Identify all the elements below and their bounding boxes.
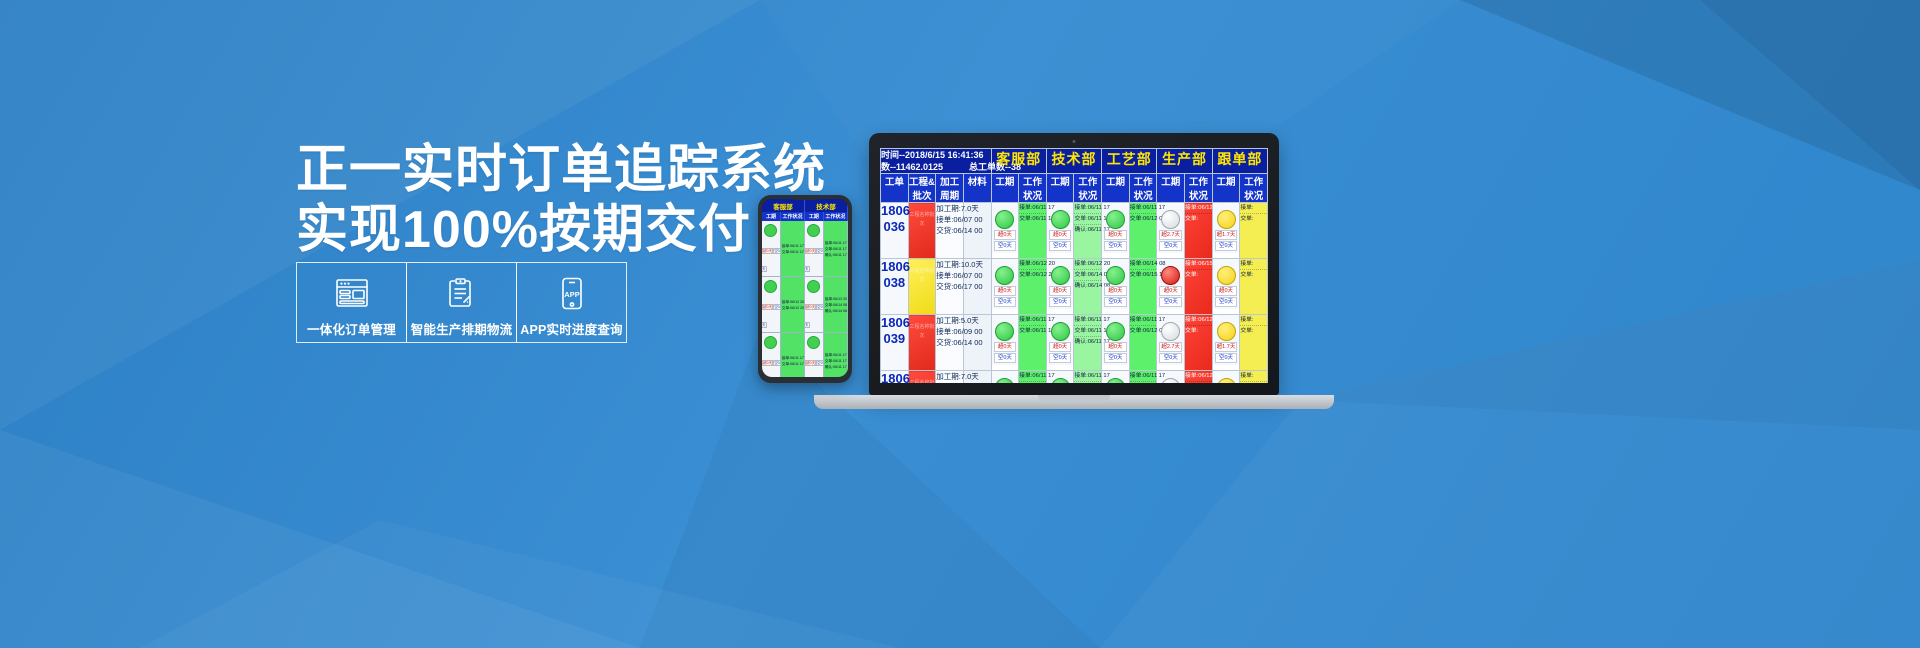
phone-duration-cell-0[interactable]: 超0天空0天: [762, 333, 781, 377]
processing-cycle-cell: 加工期:7.0天接单:06/08 00交货:06/15 00: [936, 371, 964, 384]
idle-chip: 空0天: [1215, 241, 1238, 251]
dept-0-work-status-cell[interactable]: 接单:06/12 20交单:06/12 20: [1019, 259, 1047, 315]
work-status-line: 接单:06/11 17: [1130, 203, 1157, 214]
dept-4-work-status-cell[interactable]: 接单:交单:: [1240, 203, 1268, 259]
dept-1-work-status-cell[interactable]: 接单:06/11 17交单:06/11 17确认:06/11 17: [1074, 315, 1102, 371]
status-indicator-yellow: [1217, 210, 1236, 229]
work-status-line: 接单:06/12 20: [1074, 259, 1101, 270]
laptop-base-notch: [1038, 395, 1110, 402]
overdue-chip: 超1.7天: [1215, 230, 1238, 240]
dept-1-subcol-1: 工作状况: [1074, 174, 1102, 203]
idle-chip: 空0天: [1159, 241, 1182, 251]
phone-table-row[interactable]: 超0天空0天接单:06/11 17交单:06/11 17超0天空0天接单:06/…: [762, 221, 848, 277]
idle-chip: 空0天: [1104, 241, 1127, 251]
work-status-line: 交单:: [1185, 382, 1212, 383]
status-indicator-green: [995, 322, 1014, 341]
idle-chip: 空0天: [1049, 353, 1072, 363]
work-status-line: 交单:06/11 17: [782, 249, 804, 255]
status-indicator-green: [1106, 210, 1125, 229]
status-indicator-green: [1051, 322, 1070, 341]
status-indicator-red: [1161, 266, 1180, 285]
status-indicator-green: [764, 280, 777, 293]
phone-dept-0: 客服部: [762, 199, 805, 212]
work-status-line: 接单:06/12 09: [1185, 371, 1212, 382]
phone-table-row[interactable]: 超0天空0天接单:06/11 17交单:06/11 17超0天空0天接单:06/…: [762, 333, 848, 377]
dashboard-window-icon: [334, 276, 370, 310]
idle-chip: 空0天: [1049, 241, 1072, 251]
headline-line-1: 正一实时订单追踪系统: [296, 141, 826, 199]
work-status-line: 交单:06/11 17: [1019, 326, 1046, 336]
idle-chip: 空0天: [1159, 297, 1182, 307]
phone-body: 客服部技术部工期工作状况工期工作状况超0天空0天接单:06/11 17交单:06…: [758, 195, 852, 383]
idle-chip: 空0天: [994, 297, 1017, 307]
timestamp-label: 时间--2018/6/15 16:41:36: [881, 149, 991, 161]
dept-0-duration-cell[interactable]: 超0天空0天: [991, 259, 1019, 315]
work-status-line: 接单:06/15 16: [1185, 259, 1212, 270]
feature-label: APP实时进度查询: [520, 319, 623, 338]
table-row[interactable]: 1806036工程名称批次加工期:7.0天接单:06/07 00交货:06/14…: [881, 203, 1268, 259]
overdue-chip: 超0天: [1104, 286, 1127, 296]
clipboard-pencil-icon: [444, 276, 480, 310]
processing-cycle-cell: 加工期:7.0天接单:06/07 00交货:06/14 00: [936, 203, 964, 259]
status-indicator-yellow: [1217, 266, 1236, 285]
dept-1-work-status-cell[interactable]: 接单:06/11 17交单:06/11 17确认:06/11 17: [1074, 203, 1102, 259]
dept-2-subcol-1: 工作状况: [1129, 174, 1157, 203]
work-status-line: 接单:: [1240, 371, 1267, 382]
phone-duration-cell-1[interactable]: 超0天空0天: [805, 333, 824, 377]
overdue-chip: 超0天: [994, 286, 1017, 296]
svg-text:APP: APP: [564, 290, 579, 299]
project-batch-cell: 工程名称批次: [908, 259, 936, 315]
work-status-line: 交单:: [1185, 214, 1212, 224]
work-status-line: 交单:: [1240, 270, 1267, 280]
work-status-line: 确认:06/11 17: [825, 252, 847, 258]
phone-duration-cell-1[interactable]: 超0天空0天: [805, 277, 824, 332]
table-row[interactable]: 1806038工程名称批次加工期:10.0天接单:06/07 00交货:06/1…: [881, 259, 1268, 315]
work-status-line: 交单:: [1185, 326, 1212, 336]
table-row[interactable]: 1806040工程名称批次加工期:7.0天接单:06/08 00交货:06/15…: [881, 371, 1268, 384]
feature-label: 一体化订单管理: [307, 319, 396, 338]
work-status-line: 交单:: [1240, 214, 1267, 224]
phone-subcol-0: 工期: [762, 212, 781, 221]
work-status-line: 接单:06/11 17: [1130, 371, 1157, 382]
work-status-line: 接单:06/11 17: [1019, 315, 1046, 326]
overdue-chip: 超0天: [1104, 230, 1127, 240]
work-status-line: 交单:06/12 09: [1130, 214, 1157, 224]
work-status-line: 接单:: [1240, 259, 1267, 270]
project-batch-cell: 工程名称批次: [908, 203, 936, 259]
table-header-top-row: 时间--2018/6/15 16:41:36 数--11462.0125 总工单…: [881, 149, 1268, 174]
work-status-line: 交单:06/14 08: [1074, 270, 1101, 281]
work-status-line: 接单:06/12 09: [1185, 315, 1212, 326]
work-status-line: 交单:06/11 17: [1074, 214, 1101, 225]
overdue-chip: 超2.7天: [1159, 342, 1182, 352]
processing-cycle-cell: 加工期:10.0天接单:06/07 00交货:06/17 00: [936, 259, 964, 315]
dept-3-subcol-1: 工作状况: [1185, 174, 1213, 203]
status-indicator-green: [1106, 266, 1125, 285]
status-indicator-green: [995, 210, 1014, 229]
work-status-line: 接单:06/11 17: [1019, 203, 1046, 214]
feature-label: 智能生产排期物流: [411, 319, 513, 338]
overdue-chip: 超0天: [805, 248, 816, 254]
dept-2-subcol-0: 工期: [1102, 174, 1130, 203]
overdue-chip: 超0天: [994, 230, 1017, 240]
laptop-screen: 时间--2018/6/15 16:41:36 数--11462.0125 总工单…: [880, 148, 1268, 383]
dept-header-1: 技术部: [1046, 149, 1101, 174]
project-batch-cell: 工程名称批次: [908, 315, 936, 371]
count-label: 数--11462.0125: [881, 161, 943, 173]
work-status-line: 接单:06/11 17: [1130, 315, 1157, 326]
overdue-chip: 超0天: [1049, 286, 1072, 296]
work-status-line: 交单:06/12 20: [1019, 270, 1046, 280]
dept-0-work-status-cell[interactable]: 接单:06/11 17交单:06/11 17: [1019, 315, 1047, 371]
dept-2-work-status-cell[interactable]: 接单:06/14 08交单:06/15 16: [1129, 259, 1157, 315]
phone-duration-cell-1[interactable]: 超0天空0天: [805, 221, 824, 276]
status-indicator-green: [807, 224, 820, 237]
idle-chip: 空0天: [1215, 297, 1238, 307]
dept-4-subcol-1: 工作状况: [1240, 174, 1268, 203]
status-indicator-green: [807, 336, 820, 349]
dept-0-duration-cell[interactable]: 超0天空1天: [991, 371, 1019, 384]
phone-subheader: 工期工作状况工期工作状况: [762, 212, 848, 221]
dept-header-3: 生产部: [1157, 149, 1212, 174]
work-status-line: 交单:06/11 17: [1019, 382, 1046, 383]
overdue-chip: 超0天: [1049, 230, 1072, 240]
phone-work-status-cell-0[interactable]: 接单:06/11 17交单:06/11 17: [781, 333, 805, 377]
dept-1-work-status-cell[interactable]: 接单:06/12 20交单:06/14 08确认:06/14 08: [1074, 259, 1102, 315]
overdue-chip: 超0天: [1049, 342, 1072, 352]
dept-2-work-status-cell[interactable]: 接单:06/11 17交单:06/12 09: [1129, 371, 1157, 384]
overdue-chip: 超0天: [805, 304, 816, 310]
work-status-line: 接单:06/11 17: [1019, 371, 1046, 382]
work-order-number: 1806040: [881, 371, 909, 384]
status-indicator-green: [1051, 266, 1070, 285]
phone-dept-header: 客服部技术部: [762, 199, 848, 212]
col-header-0: 工单: [881, 174, 909, 203]
work-status-line: 接单:: [1240, 203, 1267, 214]
work-status-line: 交单:06/12 09: [1130, 326, 1157, 336]
work-status-line: 交单:: [1240, 326, 1267, 336]
order-tracking-table[interactable]: 时间--2018/6/15 16:41:36 数--11462.0125 总工单…: [880, 148, 1268, 383]
work-status-line: 接单:06/12 20: [1019, 259, 1046, 270]
dept-0-duration-cell[interactable]: 超0天空0天: [991, 203, 1019, 259]
overdue-chip: 超0天: [762, 360, 773, 366]
overdue-chip: 超0天: [762, 248, 773, 254]
dept-1-work-status-cell[interactable]: 接单:06/11 17交单:06/11 17确认:06/11 17: [1074, 371, 1102, 384]
status-indicator-green: [995, 378, 1014, 383]
phone-notch: [790, 195, 820, 200]
dept-0-work-status-cell[interactable]: 接单:06/11 17交单:06/11 17: [1019, 203, 1047, 259]
work-status-line: 交单:06/15 16: [1130, 270, 1157, 280]
status-indicator-green: [764, 336, 777, 349]
laptop-lid: 时间--2018/6/15 16:41:36 数--11462.0125 总工单…: [869, 133, 1279, 395]
status-indicator-green: [995, 266, 1014, 285]
work-status-line: 接单:06/14 08: [1130, 259, 1157, 270]
processing-cycle-cell: 加工期:5.0天接单:06/09 00交货:06/14 00: [936, 315, 964, 371]
mobile-app-icon: APP: [554, 276, 590, 310]
overdue-chip: 超0天: [1215, 286, 1238, 296]
work-status-line: 接单:: [1240, 315, 1267, 326]
feature-list: 一体化订单管理 智能生产排期物流 APP: [296, 262, 626, 343]
idle-chip: 空0天: [1104, 353, 1127, 363]
phone-dept-1: 技术部: [805, 199, 848, 212]
dept-3-work-status-cell[interactable]: 接单:06/12 09交单:: [1185, 203, 1213, 259]
idle-chip: 空0天: [994, 353, 1017, 363]
work-order-number: 1806036: [881, 203, 909, 259]
col-header-2: 加工周期: [936, 174, 964, 203]
idle-chip: 空0天: [1159, 353, 1182, 363]
work-status-line: 接单:06/11 17: [1074, 203, 1101, 214]
status-indicator-yellow: [1217, 322, 1236, 341]
status-indicator-white: [1161, 210, 1180, 229]
dept-0-work-status-cell[interactable]: 接单:06/11 17交单:06/11 17: [1019, 371, 1047, 384]
phone-screen: 客服部技术部工期工作状况工期工作状况超0天空0天接单:06/11 17交单:06…: [762, 199, 848, 377]
work-status-line: 确认:06/11 17: [825, 364, 847, 370]
phone-duration-cell-0[interactable]: 超0天空0天: [762, 277, 781, 332]
work-status-line: 交单:06/12 09: [1130, 382, 1157, 383]
status-indicator-green: [1106, 322, 1125, 341]
project-batch-cell: 工程名称批次: [908, 371, 936, 384]
dept-4-subcol-0: 工期: [1212, 174, 1240, 203]
idle-chip: 空0天: [994, 241, 1017, 251]
phone-subcol-1: 工作状况: [781, 212, 805, 221]
idle-chip: 空0天: [1049, 297, 1072, 307]
phone-work-status-cell-0[interactable]: 接单:06/11 17交单:06/11 17: [781, 221, 805, 276]
overdue-chip: 超0天: [762, 304, 773, 310]
work-status-line: 交单:: [1185, 270, 1212, 280]
table-row[interactable]: 1806039工程名称批次加工期:5.0天接单:06/09 00交货:06/14…: [881, 315, 1268, 371]
phone-subcol-3: 工作状况: [824, 212, 848, 221]
overdue-chip: 超1.7天: [1215, 342, 1238, 352]
feature-card-production-scheduling[interactable]: 智能生产排期物流: [406, 262, 517, 343]
dept-4-work-status-cell[interactable]: 接单:交单:: [1240, 259, 1268, 315]
overdue-chip: 超0天: [1159, 286, 1182, 296]
dept-3-work-status-cell[interactable]: 接单:06/12 09交单:: [1185, 371, 1213, 384]
work-status-line: 确认:06/14 08: [1074, 281, 1101, 291]
dept-3-work-status-cell[interactable]: 接单:06/15 16交单:: [1185, 259, 1213, 315]
col-header-1: 工程&批次: [908, 174, 936, 203]
dept-1-subcol-0: 工期: [1046, 174, 1074, 203]
table-header: 时间--2018/6/15 16:41:36 数--11462.0125 总工单…: [881, 149, 1268, 203]
dept-header-2: 工艺部: [1102, 149, 1157, 174]
work-status-line: 确认:06/11 17: [1074, 337, 1101, 347]
laptop-mockup: 时间--2018/6/15 16:41:36 数--11462.0125 总工单…: [814, 133, 1334, 430]
work-status-line: 确认:06/14 08: [825, 308, 847, 314]
phone-work-status-cell-1[interactable]: 接单:06/12 20交单:06/14 08确认:06/14 08: [824, 277, 848, 332]
phone-mockup: 客服部技术部工期工作状况工期工作状况超0天空0天接单:06/11 17交单:06…: [758, 195, 852, 383]
status-indicator-green: [807, 280, 820, 293]
dept-0-subcol-1: 工作状况: [1019, 174, 1047, 203]
work-status-line: 确认:06/11 17: [1074, 225, 1101, 235]
work-status-line: 交单:06/11 17: [1074, 326, 1101, 337]
work-status-line: 接单:06/12 09: [1185, 203, 1212, 214]
phone-work-status-cell-1[interactable]: 接单:06/11 17交单:06/11 17确认:06/11 17: [824, 221, 848, 276]
work-status-line: 交单:06/12 20: [782, 305, 804, 311]
work-status-line: 接单:06/11 17: [1074, 371, 1101, 382]
dashboard-info-cell: 时间--2018/6/15 16:41:36 数--11462.0125 总工单…: [881, 149, 992, 174]
idle-chip: 空0天: [1215, 353, 1238, 363]
overdue-chip: 超2.7天: [1159, 230, 1182, 240]
phone-table-row[interactable]: 超0天空0天接单:06/12 20交单:06/12 20超0天空0天接单:06/…: [762, 277, 848, 333]
work-status-line: 交单:: [1240, 382, 1267, 383]
phone-work-status-cell-0[interactable]: 接单:06/12 20交单:06/12 20: [781, 277, 805, 332]
phone-subcol-2: 工期: [805, 212, 824, 221]
table-body[interactable]: 1806036工程名称批次加工期:7.0天接单:06/07 00交货:06/14…: [881, 203, 1268, 384]
work-order-number: 1806039: [881, 315, 909, 371]
work-status-line: 交单:06/11 17: [782, 361, 804, 367]
overdue-chip: 超0天: [805, 360, 816, 366]
dept-2-work-status-cell[interactable]: 接单:06/11 17交单:06/12 09: [1129, 203, 1157, 259]
dept-4-work-status-cell[interactable]: 接单:交单:: [1240, 315, 1268, 371]
idle-chip: 空0天: [1104, 297, 1127, 307]
col-header-3: 材料: [963, 174, 991, 203]
dept-0-subcol-0: 工期: [991, 174, 1019, 203]
dept-4-work-status-cell[interactable]: 接单:交单:: [1240, 371, 1268, 384]
overdue-chip: 超0天: [994, 342, 1017, 352]
status-indicator-white: [1161, 322, 1180, 341]
status-indicator-green: [1051, 210, 1070, 229]
work-status-line: 交单:06/11 17: [1019, 214, 1046, 224]
work-status-line: 接单:06/11 17: [1074, 315, 1101, 326]
status-indicator-white: [1161, 378, 1180, 383]
overdue-chip: 超0天: [1104, 342, 1127, 352]
phone-duration-cell-0[interactable]: 超0天空0天: [762, 221, 781, 276]
phone-work-status-cell-1[interactable]: 接单:06/11 17交单:06/11 17确认:06/11 17: [824, 333, 848, 377]
table-subheader-row: 工单工程&批次加工周期材料工期工作状况工期工作状况工期工作状况工期工作状况工期工…: [881, 174, 1268, 203]
work-status-line: 交单:06/11 17: [1074, 382, 1101, 383]
feature-card-order-management[interactable]: 一体化订单管理: [296, 262, 407, 343]
dept-2-work-status-cell[interactable]: 接单:06/11 17交单:06/12 09: [1129, 315, 1157, 371]
work-order-number: 1806038: [881, 259, 909, 315]
dept-0-duration-cell[interactable]: 超0天空0天: [991, 315, 1019, 371]
dept-3-subcol-0: 工期: [1157, 174, 1185, 203]
feature-card-app-progress[interactable]: APP APP实时进度查询: [516, 262, 627, 343]
status-indicator-green: [764, 224, 777, 237]
webcam-icon: [1073, 140, 1076, 143]
dept-3-work-status-cell[interactable]: 接单:06/12 09交单:: [1185, 315, 1213, 371]
phone-dashboard[interactable]: 客服部技术部工期工作状况工期工作状况超0天空0天接单:06/11 17交单:06…: [762, 199, 848, 377]
dept-header-4: 跟单部: [1212, 149, 1267, 174]
